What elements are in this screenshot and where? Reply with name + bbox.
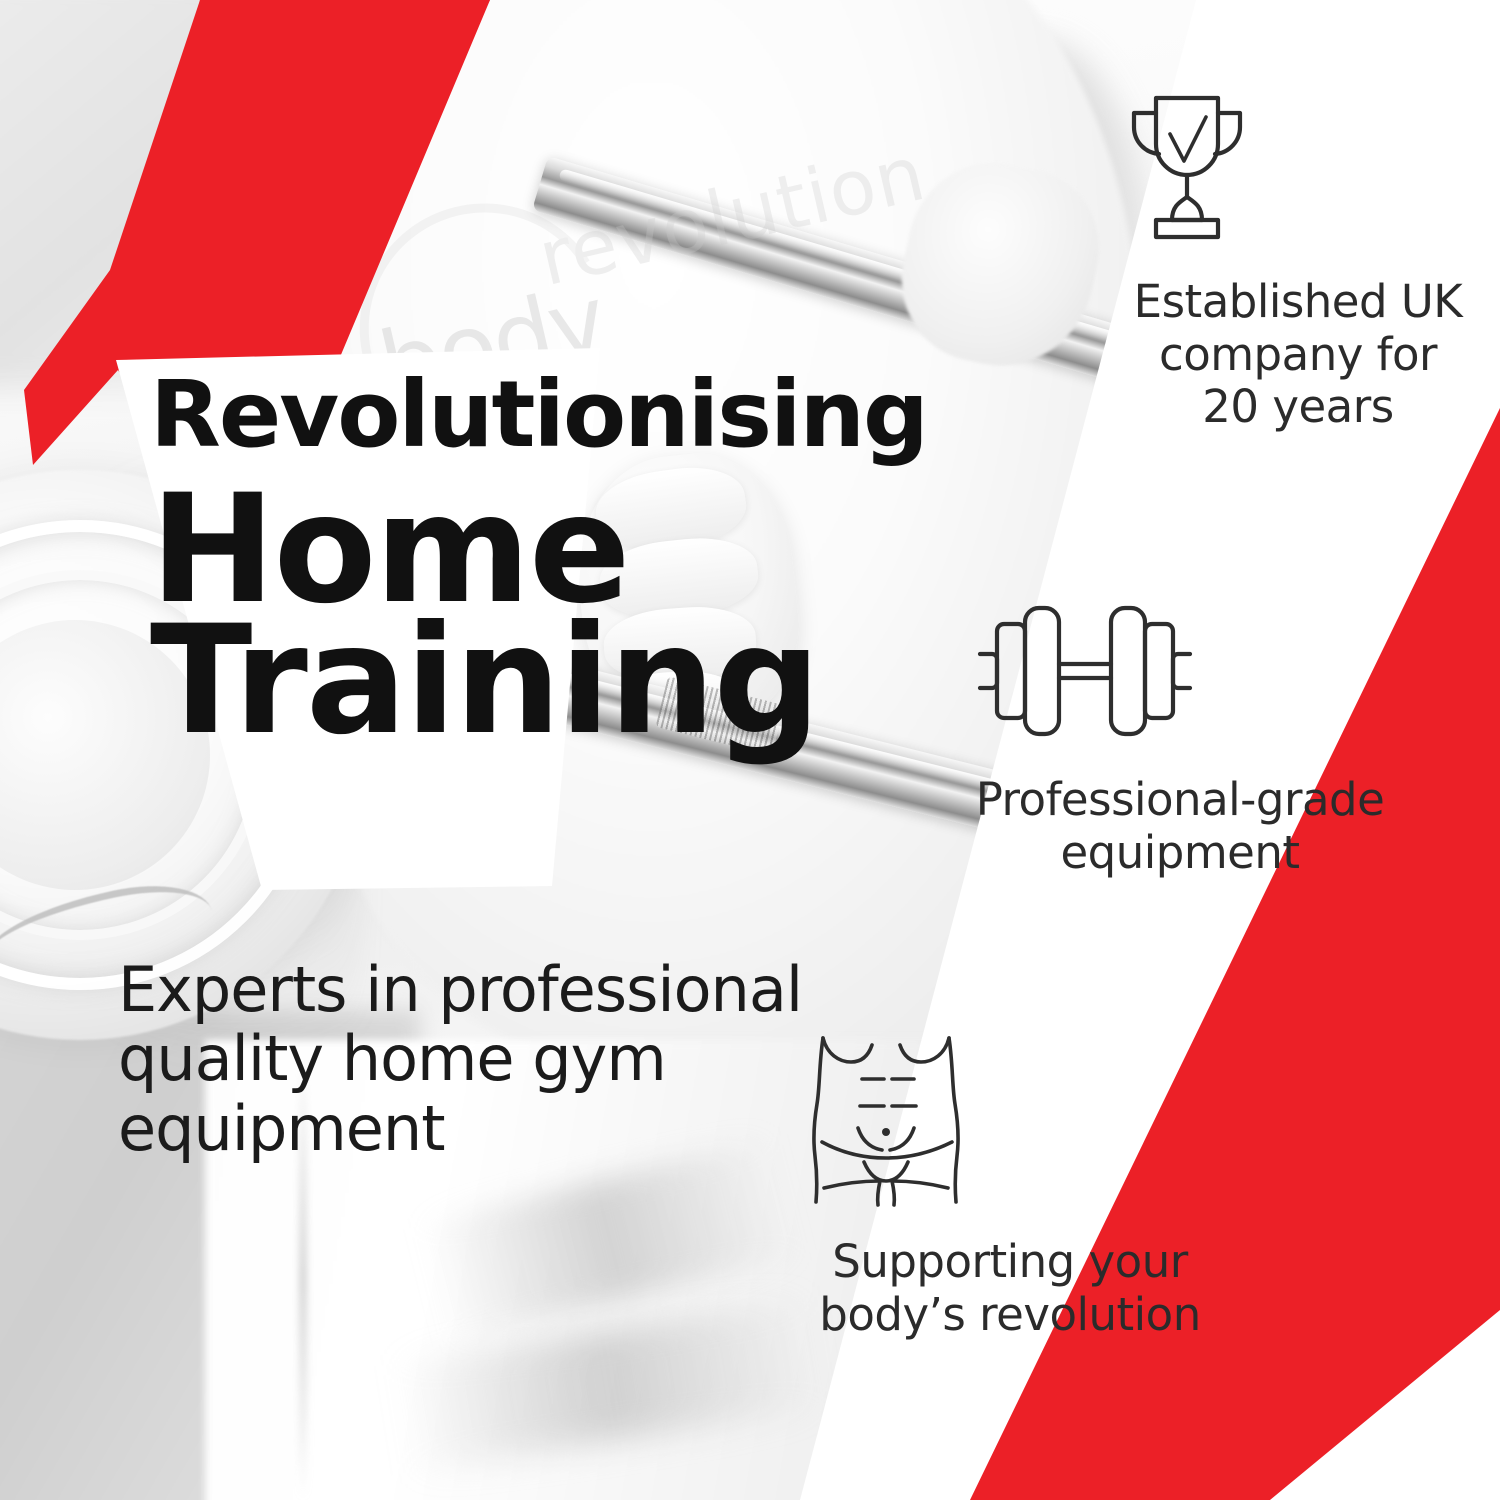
feature-caption: Established UK company for 20 years [1134, 275, 1463, 433]
dumbbell-icon [970, 596, 1390, 746]
feature-professional-equipment: Professional-grade equipment [970, 596, 1390, 879]
feature-established-uk: Established UK company for 20 years [1112, 88, 1484, 434]
subheadline: Experts in professional quality home gym… [118, 955, 878, 1163]
feature-caption: Professional-grade equipment [976, 773, 1385, 879]
promo-banner: body revolution Revolutionising Home Tra… [0, 0, 1500, 1500]
headline-line-3: Training [150, 611, 890, 752]
trophy-check-icon [1112, 88, 1484, 248]
feature-caption: Supporting your body’s revolution [819, 1235, 1200, 1341]
page-title: Revolutionising Home Training [150, 372, 890, 752]
feature-body-revolution: Supporting your body’s revolution [800, 1032, 1220, 1341]
torso-abs-icon [800, 1032, 1220, 1208]
headline-line-1: Revolutionising [150, 372, 890, 458]
